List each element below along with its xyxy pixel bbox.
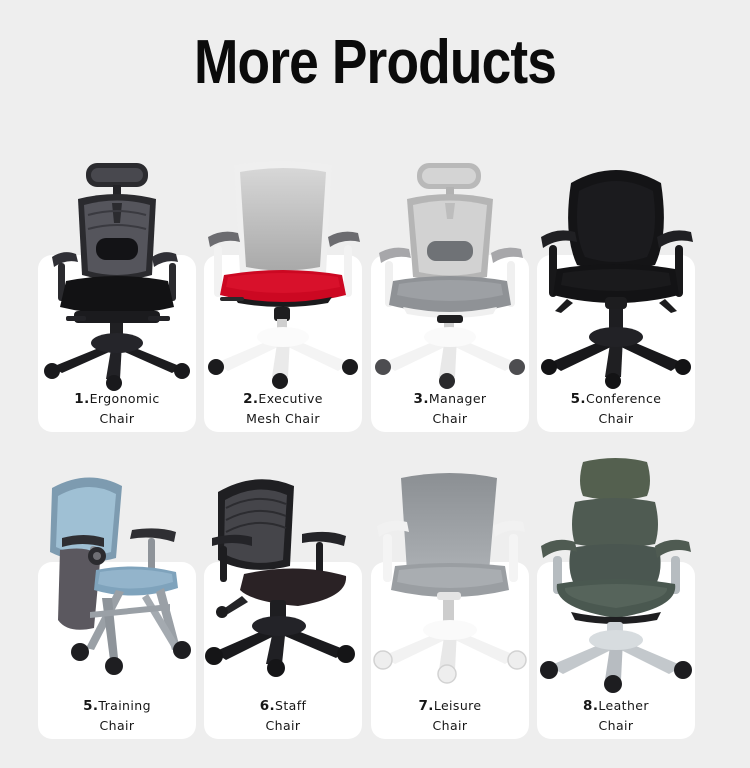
product-index: 8. xyxy=(583,698,598,714)
product-card-3[interactable]: 3.Manager Chair xyxy=(371,145,529,452)
product-caption: 2.Executive Mesh Chair xyxy=(204,390,362,428)
product-name-line1: Manager xyxy=(429,391,487,406)
product-image-leather-chair xyxy=(527,452,705,700)
product-index: 6. xyxy=(260,698,275,714)
product-name-line1: Executive xyxy=(258,391,322,406)
product-name-line2: Chair xyxy=(433,718,468,733)
product-name-line2: Chair xyxy=(266,718,301,733)
product-index: 5. xyxy=(83,698,98,714)
product-image-conference-chair xyxy=(527,145,705,393)
product-image-training-chair xyxy=(28,452,206,700)
product-index: 5. xyxy=(571,391,586,407)
product-row-2: 5.Training Chair xyxy=(0,452,750,759)
product-name-line2: Chair xyxy=(599,718,634,733)
product-index: 1. xyxy=(74,391,89,407)
product-name-line2: Mesh Chair xyxy=(246,411,320,426)
product-name-line2: Chair xyxy=(433,411,468,426)
product-catalog-page: More Products xyxy=(0,0,750,768)
product-caption: 7.Leisure Chair xyxy=(371,697,529,735)
product-name-line2: Chair xyxy=(100,718,135,733)
product-caption: 8.Leather Chair xyxy=(537,697,695,735)
product-caption: 6.Staff Chair xyxy=(204,697,362,735)
product-name-line1: Leisure xyxy=(434,698,482,713)
product-name-line2: Chair xyxy=(599,411,634,426)
product-card-7[interactable]: 7.Leisure Chair xyxy=(371,452,529,759)
product-name-line2: Chair xyxy=(100,411,135,426)
product-name-line1: Ergonomic xyxy=(90,391,160,406)
product-name-line1: Staff xyxy=(275,698,306,713)
product-name-line1: Training xyxy=(98,698,151,713)
product-card-4[interactable]: 5.Conference Chair xyxy=(537,145,695,452)
product-row-1: 1.Ergonomic Chair xyxy=(0,145,750,452)
product-card-6[interactable]: 6.Staff Chair xyxy=(204,452,362,759)
product-index: 3. xyxy=(414,391,429,407)
product-image-leisure-chair xyxy=(361,452,539,700)
product-card-1[interactable]: 1.Ergonomic Chair xyxy=(38,145,196,452)
product-image-ergonomic-chair xyxy=(28,145,206,393)
product-card-2[interactable]: 2.Executive Mesh Chair xyxy=(204,145,362,452)
product-card-5[interactable]: 5.Training Chair xyxy=(38,452,196,759)
product-image-executive-mesh-chair xyxy=(194,145,372,393)
product-index: 7. xyxy=(418,698,433,714)
product-image-manager-chair xyxy=(361,145,539,393)
product-name-line1: Conference xyxy=(586,391,661,406)
product-grid: 1.Ergonomic Chair xyxy=(0,145,750,759)
product-caption: 3.Manager Chair xyxy=(371,390,529,428)
product-caption: 5.Training Chair xyxy=(38,697,196,735)
product-card-8[interactable]: 8.Leather Chair xyxy=(537,452,695,759)
product-caption: 5.Conference Chair xyxy=(537,390,695,428)
product-image-staff-chair xyxy=(194,452,372,700)
product-name-line1: Leather xyxy=(598,698,649,713)
product-index: 2. xyxy=(243,391,258,407)
page-title: More Products xyxy=(53,30,698,95)
product-caption: 1.Ergonomic Chair xyxy=(38,390,196,428)
